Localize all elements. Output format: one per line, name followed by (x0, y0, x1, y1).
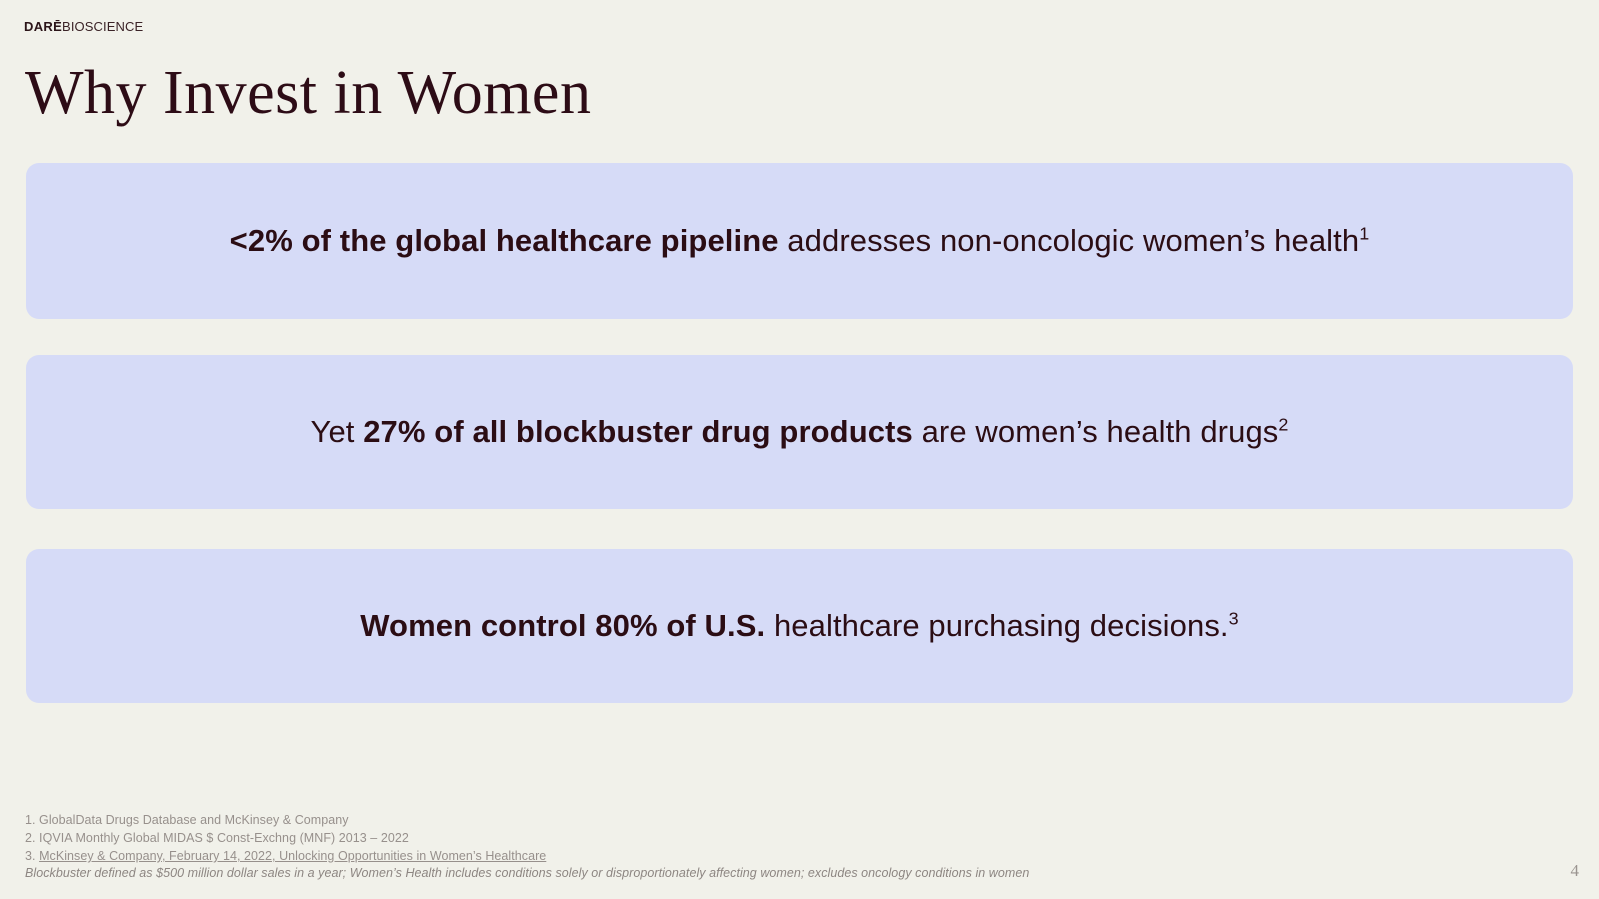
page-number: 4 (1571, 861, 1580, 881)
statement-text-purchasing: Women control 80% of U.S. healthcare pur… (336, 607, 1263, 646)
footnote-marker-1: 1 (1359, 223, 1369, 243)
statement-text-pipeline: <2% of the global healthcare pipeline ad… (206, 222, 1394, 261)
statement-regular-lead-blockbuster: Yet (311, 414, 364, 449)
disclaimer-text: Blockbuster defined as $500 million doll… (25, 864, 1029, 882)
footnote-marker-3: 3 (1229, 608, 1239, 628)
footnote-marker-2: 2 (1278, 414, 1288, 434)
brand-logo: DARĒBIOSCIENCE (24, 20, 143, 33)
page-title: Why Invest in Women (25, 58, 591, 129)
statement-regular-pipeline: addresses non-oncologic women’s health (779, 223, 1360, 258)
footnote-item-3: 3. McKinsey & Company, February 14, 2022… (25, 847, 546, 865)
logo-primary-text: DARĒ (24, 19, 62, 34)
statement-panel-group: <2% of the global healthcare pipeline ad… (26, 163, 1573, 703)
statement-panel-purchasing: Women control 80% of U.S. healthcare pur… (26, 549, 1573, 703)
statement-bold-purchasing: Women control 80% of U.S. (360, 608, 765, 643)
footnote-item-2: 2. IQVIA Monthly Global MIDAS $ Const-Ex… (25, 829, 546, 847)
logo-secondary-text: BIOSCIENCE (62, 19, 143, 34)
statement-bold-blockbuster: 27% of all blockbuster drug products (363, 414, 913, 449)
statement-text-blockbuster: Yet 27% of all blockbuster drug products… (287, 413, 1313, 452)
footnote-item-1: 1. GlobalData Drugs Database and McKinse… (25, 811, 546, 829)
footnote-list: 1. GlobalData Drugs Database and McKinse… (25, 811, 546, 865)
footnote-link-mckinsey[interactable]: McKinsey & Company, February 14, 2022, U… (39, 849, 546, 863)
statement-regular-blockbuster: are women’s health drugs (913, 414, 1279, 449)
statement-panel-blockbuster: Yet 27% of all blockbuster drug products… (26, 355, 1573, 509)
statement-bold-pipeline: <2% of the global healthcare pipeline (230, 223, 779, 258)
statement-regular-purchasing: healthcare purchasing decisions. (765, 608, 1228, 643)
footnote-item-3-number: 3. (25, 849, 39, 863)
statement-panel-pipeline: <2% of the global healthcare pipeline ad… (26, 163, 1573, 319)
